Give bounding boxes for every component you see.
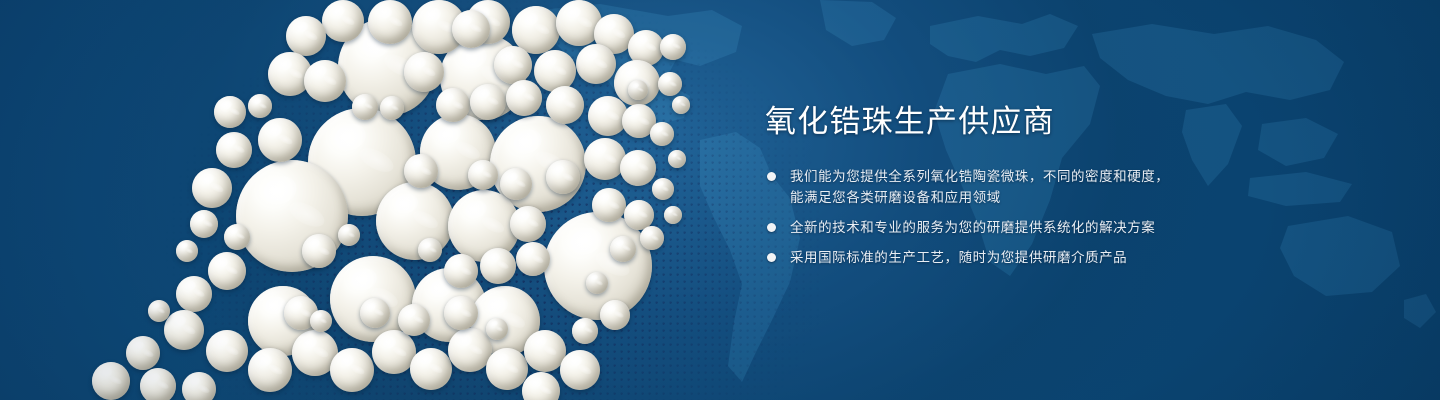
bullet-dot-icon	[767, 253, 776, 262]
list-item-line: 能满足您各类研磨设备和应用领域	[790, 187, 1285, 208]
list-item-line: 采用国际标准的生产工艺，随时为您提供研磨介质产品	[790, 247, 1285, 268]
feature-list: 我们能为您提供全系列氧化锆陶瓷微珠，不同的密度和硬度， 能满足您各类研磨设备和应…	[765, 166, 1285, 268]
banner-copy: 氧化锆珠生产供应商 我们能为您提供全系列氧化锆陶瓷微珠，不同的密度和硬度， 能满…	[765, 104, 1285, 268]
bullet-dot-icon	[767, 172, 776, 181]
list-item: 我们能为您提供全系列氧化锆陶瓷微珠，不同的密度和硬度， 能满足您各类研磨设备和应…	[765, 166, 1285, 208]
page-title: 氧化锆珠生产供应商	[765, 104, 1285, 140]
list-item: 采用国际标准的生产工艺，随时为您提供研磨介质产品	[765, 247, 1285, 268]
bullet-dot-icon	[767, 223, 776, 232]
hero-banner: 氧化锆珠生产供应商 我们能为您提供全系列氧化锆陶瓷微珠，不同的密度和硬度， 能满…	[0, 0, 1440, 400]
list-item: 全新的技术和专业的服务为您的研磨提供系统化的解决方案	[765, 217, 1285, 238]
list-item-line: 我们能为您提供全系列氧化锆陶瓷微珠，不同的密度和硬度，	[790, 166, 1285, 187]
list-item-line: 全新的技术和专业的服务为您的研磨提供系统化的解决方案	[790, 217, 1285, 238]
